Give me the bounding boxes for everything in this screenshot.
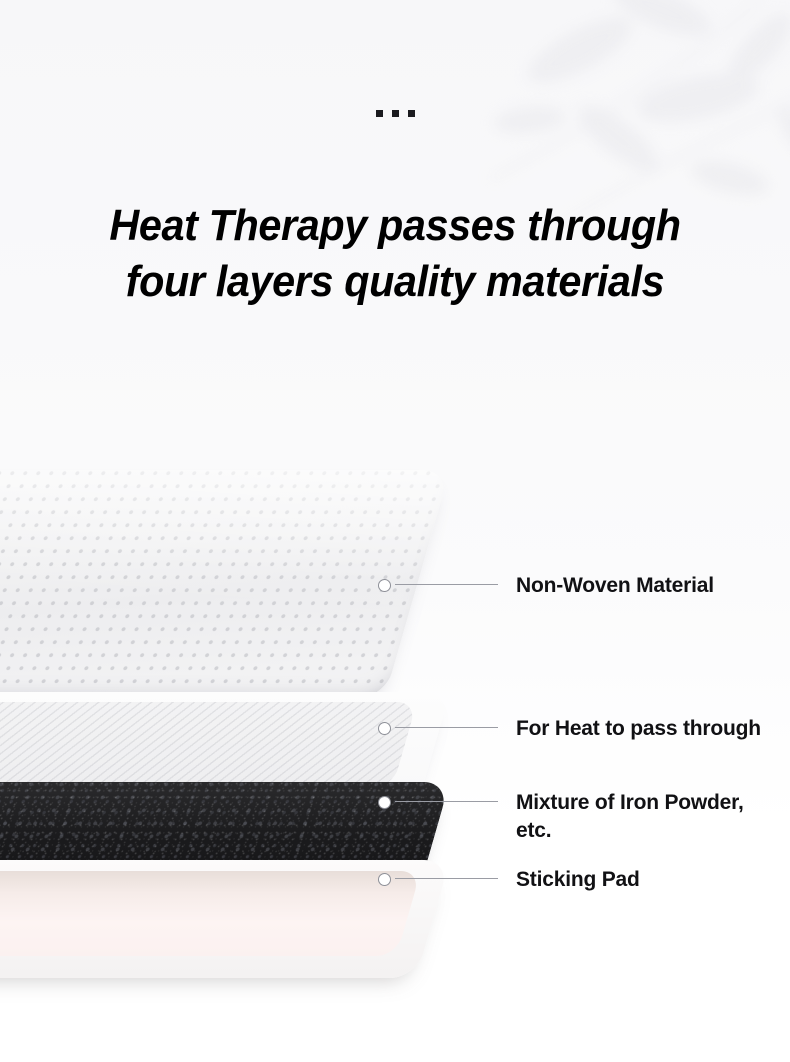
exploded-layer-stack bbox=[0, 470, 520, 930]
callout-non-woven: Non-Woven Material bbox=[0, 572, 714, 600]
ornament-dot bbox=[376, 110, 383, 117]
page-title-line-2: four layers quality materials bbox=[24, 254, 767, 310]
callout-leader-line bbox=[395, 584, 498, 585]
callout-leader-line bbox=[395, 801, 498, 802]
ornament-dot bbox=[392, 110, 399, 117]
three-dots-ornament bbox=[0, 110, 790, 117]
callout-label: Non-Woven Material bbox=[516, 572, 714, 600]
callout-sticking-pad: Sticking Pad bbox=[0, 866, 640, 894]
callout-label: Mixture of Iron Powder, etc. bbox=[516, 789, 744, 845]
callout-heat-pass: For Heat to pass through bbox=[0, 715, 761, 743]
page-title: Heat Therapy passes through four layers … bbox=[24, 198, 767, 311]
callout-marker-icon bbox=[378, 796, 391, 809]
callout-marker-icon bbox=[378, 873, 391, 886]
callout-label: For Heat to pass through bbox=[516, 715, 761, 743]
callout-label: Sticking Pad bbox=[516, 866, 640, 894]
callout-marker-icon bbox=[378, 722, 391, 735]
product-feature-panel: Heat Therapy passes through four layers … bbox=[0, 0, 790, 1062]
page-title-line-1: Heat Therapy passes through bbox=[109, 201, 680, 250]
callout-leader-line bbox=[395, 727, 498, 728]
callout-leader-line bbox=[395, 878, 498, 879]
ornament-dot bbox=[408, 110, 415, 117]
callout-marker-icon bbox=[378, 579, 391, 592]
callout-iron-powder: Mixture of Iron Powder, etc. bbox=[0, 789, 744, 845]
